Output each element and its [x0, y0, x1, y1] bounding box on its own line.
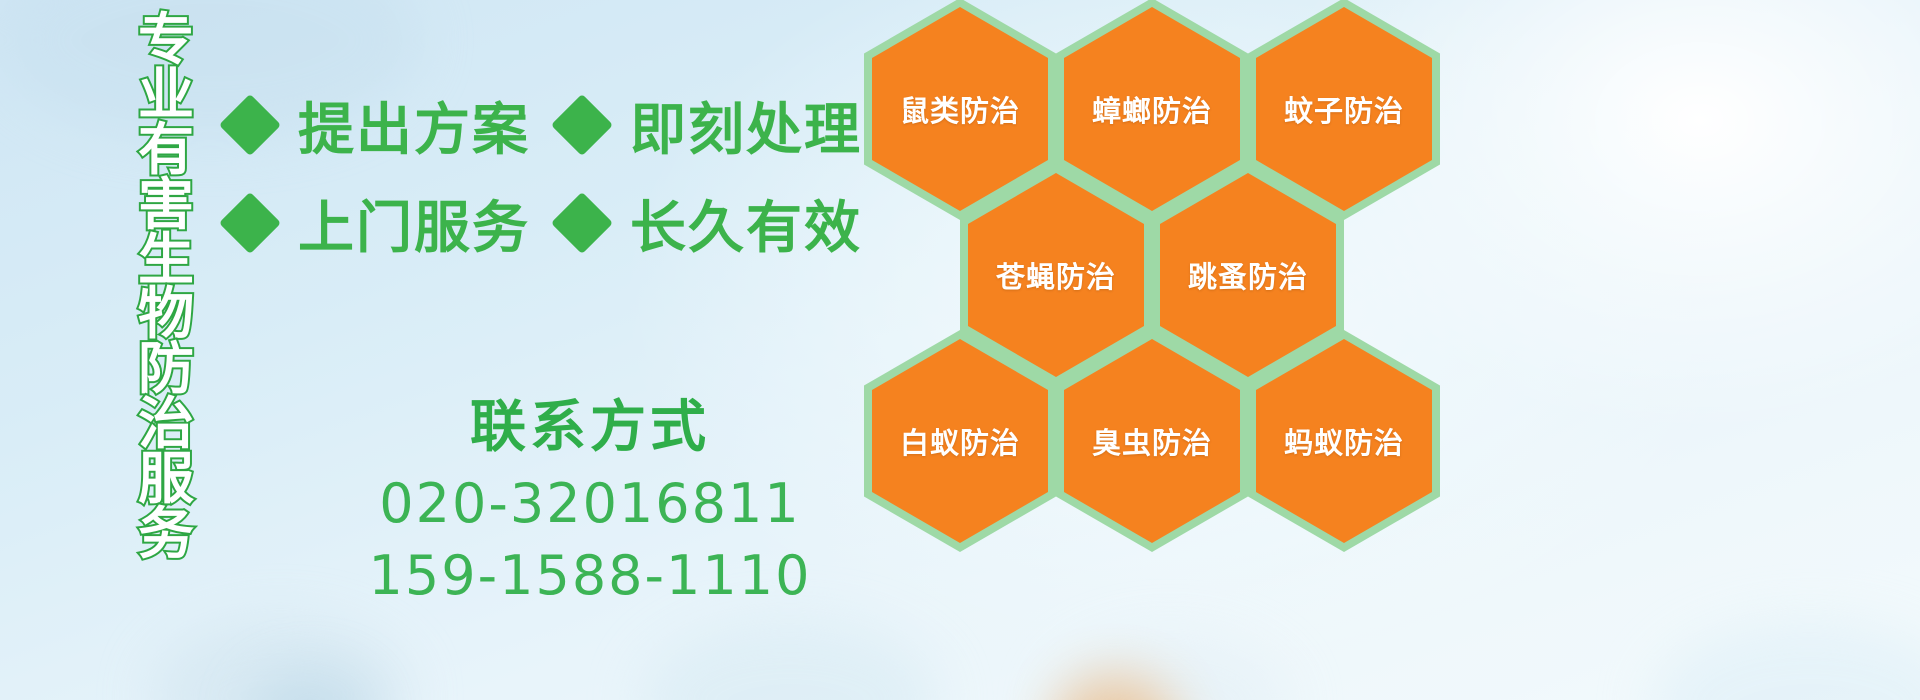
feature-list: 提出方案 即刻处理 上门服务 长久有效 [228, 76, 868, 272]
service-hex-cell[interactable]: 白蚁防治 [864, 330, 1056, 552]
service-label: 臭虫防治 [1092, 420, 1212, 462]
diamond-bullet-icon [551, 94, 613, 156]
headline-char: 务 [138, 508, 194, 562]
feature-label: 即刻处理 [630, 85, 862, 166]
headline-char: 服 [138, 453, 194, 507]
service-label: 白蚁防治 [900, 420, 1020, 462]
background-blob [1650, 620, 1920, 700]
service-label: 蚊子防治 [1284, 88, 1404, 130]
service-label: 跳蚤防治 [1188, 254, 1308, 296]
background-blob [150, 620, 410, 700]
headline-char: 治 [138, 398, 194, 452]
feature-row: 上门服务 长久有效 [228, 174, 868, 272]
headline-char: 物 [138, 288, 194, 342]
service-label: 苍蝇防治 [996, 254, 1116, 296]
headline-char: 专 [138, 14, 194, 68]
vertical-headline: 专 业 有 害 生 物 防 治 服 务 [104, 14, 228, 562]
contact-block: 联系方式 020-32016811 159-1588-1110 [300, 392, 880, 612]
background-blob [250, 670, 370, 700]
service-label: 蟑螂防治 [1092, 88, 1212, 130]
service-label: 鼠类防治 [900, 88, 1020, 130]
diamond-bullet-icon [551, 192, 613, 254]
feature-label: 长久有效 [630, 183, 862, 264]
phone-number-mobile[interactable]: 159-1588-1110 [300, 540, 880, 612]
feature-row: 提出方案 即刻处理 [228, 76, 868, 174]
contact-title: 联系方式 [300, 392, 880, 464]
headline-char: 业 [138, 69, 194, 123]
service-hex-cell[interactable]: 蚂蚁防治 [1248, 330, 1440, 552]
headline-char: 生 [138, 234, 194, 288]
diamond-bullet-icon [219, 192, 281, 254]
promo-banner: 专 业 有 害 生 物 防 治 服 务 提出方案 即刻处理 上门服务 长久有效 [0, 0, 1920, 700]
service-honeycomb: 鼠类防治 蟑螂防治 蚊子防治 苍蝇防治 跳蚤防治 白蚁防治 [856, 0, 1496, 700]
diamond-bullet-icon [219, 94, 281, 156]
feature-label: 提出方案 [298, 85, 530, 166]
service-label: 蚂蚁防治 [1284, 420, 1404, 462]
headline-char: 防 [138, 343, 194, 397]
feature-label: 上门服务 [298, 183, 530, 264]
phone-number-landline[interactable]: 020-32016811 [300, 468, 880, 540]
headline-char: 害 [138, 179, 194, 233]
headline-char: 有 [138, 124, 194, 178]
service-hex-cell[interactable]: 臭虫防治 [1056, 330, 1248, 552]
